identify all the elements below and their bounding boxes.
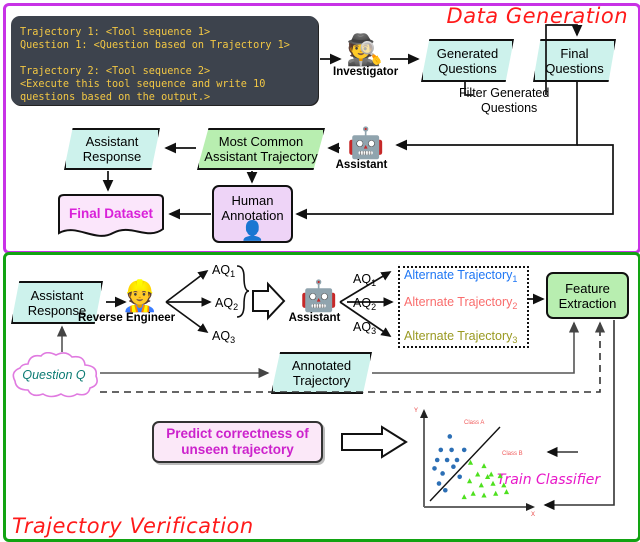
assistant-response-node-dg: Assistant Response: [64, 128, 160, 170]
panel-title-trajectory-verification: Trajectory Verification: [12, 514, 254, 538]
person-icon: 👤: [241, 223, 265, 239]
most-common-line1: Most Common: [204, 134, 317, 149]
assistant-response-tv-line1: Assistant: [28, 288, 87, 303]
engineer-icon: 👷: [118, 282, 162, 312]
final-questions-line1: Final: [545, 46, 604, 61]
most-common-line2: Assistant Trajectory: [204, 149, 317, 164]
predict-line2: unseen trajectory: [166, 442, 309, 458]
investigator-label: Investigator: [333, 67, 387, 79]
generated-questions-line1: Generated: [437, 46, 498, 61]
diagram-canvas: Data Generation Trajectory Verification …: [0, 0, 640, 540]
assistant-label-dg: Assistant: [335, 160, 388, 172]
prompt-console: Trajectory 1: <Tool sequence 1> Question…: [11, 16, 318, 105]
robot-icon: 🤖: [297, 282, 341, 312]
assistant-response-dg-line1: Assistant: [83, 134, 142, 149]
annotated-trajectory-line1: Annotated: [292, 358, 351, 373]
reverse-engineer-label: Reverse Engineer: [78, 313, 162, 325]
final-dataset-label: Final Dataset: [55, 193, 167, 240]
feature-extraction-node: Feature Extraction: [546, 272, 629, 319]
generated-questions-node: Generated Questions: [421, 39, 514, 82]
human-annotation-node: Human Annotation 👤: [212, 185, 293, 243]
final-questions-line2: Questions: [545, 61, 604, 76]
question-label: Question Q: [6, 352, 102, 398]
reverse-engineer-emoji: 👷 Reverse Engineer: [118, 282, 162, 325]
human-annotation-line1: Human: [221, 193, 283, 208]
final-questions-node: Final Questions: [533, 39, 616, 82]
filter-label-line1: Filter Generated: [459, 86, 549, 100]
most-common-trajectory-node: Most Common Assistant Trajectory: [197, 128, 325, 170]
annotated-trajectory-node: Annotated Trajectory: [271, 352, 372, 394]
assistant-response-dg-line2: Response: [83, 149, 142, 164]
question-cloud-node: Question Q: [6, 352, 102, 398]
train-classifier-label: Train Classifier: [497, 472, 600, 488]
robot-icon: 🤖: [344, 129, 388, 159]
generated-questions-line2: Questions: [437, 61, 498, 76]
panel-title-data-generation: Data Generation: [447, 4, 628, 28]
feature-extraction-line2: Extraction: [559, 296, 617, 311]
feature-extraction-line1: Feature: [559, 281, 617, 296]
assistant-emoji-dg: 🤖 Assistant: [344, 129, 388, 172]
assistant-label-tv: Assistant: [288, 313, 341, 325]
assistant-emoji-tv: 🤖 Assistant: [297, 282, 341, 325]
alternate-trajectories-group: [398, 266, 529, 348]
detective-icon: 🕵: [343, 36, 387, 66]
predict-correctness-node: Predict correctness of unseen trajectory: [152, 421, 323, 463]
prompt-console-text: Trajectory 1: <Tool sequence 1> Question…: [11, 16, 318, 115]
investigator-emoji: 🕵 Investigator: [343, 36, 387, 79]
annotated-trajectory-line2: Trajectory: [292, 373, 351, 388]
predict-line1: Predict correctness of: [166, 426, 309, 442]
filter-label-line2: Questions: [481, 101, 537, 115]
final-dataset-node: Final Dataset: [55, 193, 167, 240]
